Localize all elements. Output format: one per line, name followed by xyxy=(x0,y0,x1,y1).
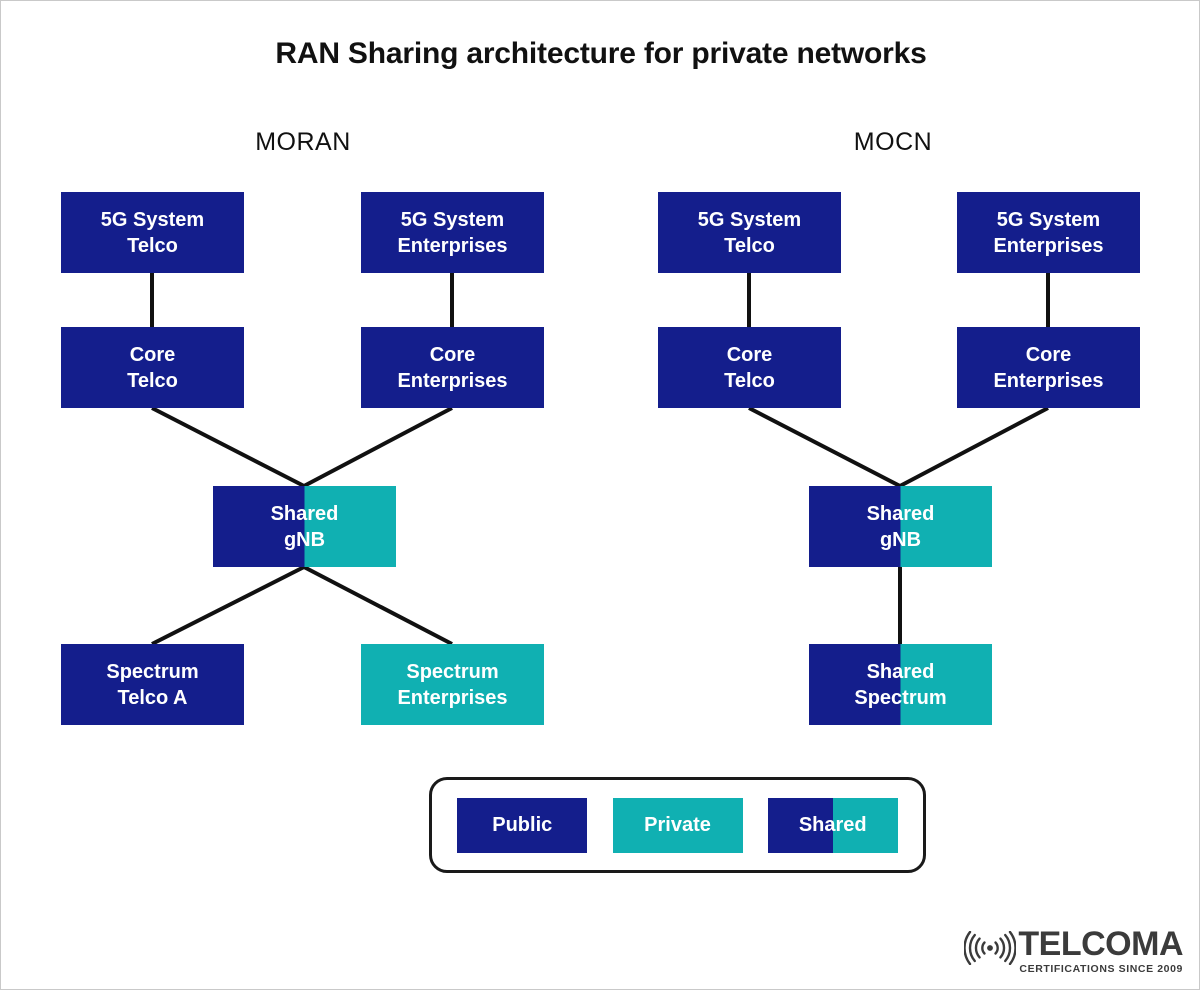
node-label: Shared gNB xyxy=(267,501,343,553)
node-mocn-core-telco: Core Telco xyxy=(658,327,841,408)
node-mocn-shared-gnb: Shared gNB xyxy=(809,486,992,567)
section-header-mocn: MOCN xyxy=(743,128,1043,157)
connector-moran-edge-coreent-gnb xyxy=(304,408,452,486)
legend-label: Private xyxy=(644,814,711,837)
connector-moran-edge-gnb-spectrument xyxy=(304,567,452,644)
node-mocn-5g-telco: 5G System Telco xyxy=(658,192,841,273)
brand-logo: TELCOMA CERTIFICATIONS SINCE 2009 xyxy=(964,928,1183,975)
node-label: Shared gNB xyxy=(863,501,939,553)
section-header-moran: MORAN xyxy=(153,128,453,157)
connector-moran-edge-gnb-spectrumtelco xyxy=(152,567,304,644)
node-label: 5G System Enterprises xyxy=(989,207,1107,259)
node-label: Spectrum Telco A xyxy=(102,659,202,711)
node-label: 5G System Telco xyxy=(694,207,805,259)
legend-panel: PublicPrivateShared xyxy=(429,777,926,873)
node-label: Spectrum Enterprises xyxy=(393,659,511,711)
node-moran-5g-telco: 5G System Telco xyxy=(61,192,244,273)
connector-moran-edge-coretelco-gnb xyxy=(152,408,304,486)
node-label: Shared Spectrum xyxy=(850,659,950,711)
legend-label: Shared xyxy=(799,814,867,837)
node-label: Core Enterprises xyxy=(393,342,511,394)
node-moran-core-enterprises: Core Enterprises xyxy=(361,327,544,408)
node-moran-shared-gnb: Shared gNB xyxy=(213,486,396,567)
diagram-canvas: RAN Sharing architecture for private net… xyxy=(0,0,1200,990)
node-label: 5G System Enterprises xyxy=(393,207,511,259)
node-label: Core Enterprises xyxy=(989,342,1107,394)
node-mocn-5g-enterprises: 5G System Enterprises xyxy=(957,192,1140,273)
node-label: Core Telco xyxy=(720,342,779,394)
node-mocn-shared-spectrum: Shared Spectrum xyxy=(809,644,992,725)
node-moran-core-telco: Core Telco xyxy=(61,327,244,408)
brand-name: TELCOMA xyxy=(1018,928,1183,960)
page-title: RAN Sharing architecture for private net… xyxy=(1,37,1200,71)
node-mocn-core-enterprises: Core Enterprises xyxy=(957,327,1140,408)
legend-label: Public xyxy=(492,814,552,837)
legend-private: Private xyxy=(613,798,743,853)
legend-public: Public xyxy=(457,798,587,853)
node-label: 5G System Telco xyxy=(97,207,208,259)
node-moran-spectrum-telco: Spectrum Telco A xyxy=(61,644,244,725)
node-label: Core Telco xyxy=(123,342,182,394)
brand-tagline: CERTIFICATIONS SINCE 2009 xyxy=(1018,963,1183,975)
connector-mocn-edge-coreent-gnb xyxy=(900,408,1048,486)
node-moran-5g-enterprises: 5G System Enterprises xyxy=(361,192,544,273)
connector-mocn-edge-coretelco-gnb xyxy=(749,408,900,486)
node-moran-spectrum-ent: Spectrum Enterprises xyxy=(361,644,544,725)
broadcast-signal-icon xyxy=(964,931,1016,965)
legend-shared: Shared xyxy=(768,798,898,853)
